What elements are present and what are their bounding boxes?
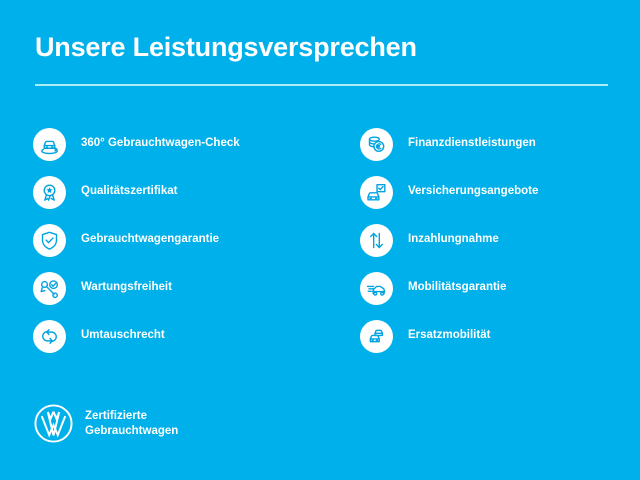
header: Unsere Leistungsversprechen <box>35 32 610 63</box>
promises-column-left: 360° Gebrauchtwagen-Check Qualitätszerti… <box>0 120 320 360</box>
list-item: Finanzdienstleistungen <box>360 120 640 168</box>
list-item-label: Mobilitätsgarantie <box>408 281 506 295</box>
promises-grid: 360° Gebrauchtwagen-Check Qualitätszerti… <box>0 120 640 360</box>
list-item-label: Qualitätszertifikat <box>81 185 178 199</box>
brand-lockup-text: Zertifizierte Gebrauchtwagen <box>85 409 178 439</box>
up-down-arrows-icon <box>360 224 393 257</box>
shield-check-icon <box>33 224 66 257</box>
two-cars-icon <box>360 320 393 353</box>
page-title: Unsere Leistungsversprechen <box>35 32 610 63</box>
list-item-label: Wartungsfreiheit <box>81 281 172 295</box>
brand-lockup-line1: Zertifizierte <box>85 410 147 422</box>
brand-lockup: Zertifizierte Gebrauchtwagen <box>33 403 178 444</box>
list-item: Mobilitätsgarantie <box>360 264 640 312</box>
promises-column-right: Finanzdienstleistungen Versicherungsange… <box>320 120 640 360</box>
wrench-check-icon <box>33 272 66 305</box>
list-item: 360° Gebrauchtwagen-Check <box>33 120 320 168</box>
quality-rosette-icon <box>33 176 66 209</box>
list-item-label: Versicherungsangebote <box>408 185 538 199</box>
list-item-label: Umtauschrecht <box>81 329 165 343</box>
list-item-label: Inzahlungnahme <box>408 233 499 247</box>
vw-logo <box>33 403 74 444</box>
car-360-check-icon <box>33 128 66 161</box>
list-item-label: 360° Gebrauchtwagen-Check <box>81 137 240 151</box>
list-item: Gebrauchtwagengarantie <box>33 216 320 264</box>
list-item: Umtauschrecht <box>33 312 320 360</box>
list-item-label: Finanzdienstleistungen <box>408 137 536 151</box>
exchange-arrows-icon <box>33 320 66 353</box>
list-item: Qualitätszertifikat <box>33 168 320 216</box>
list-item: Ersatzmobilität <box>360 312 640 360</box>
list-item-label: Ersatzmobilität <box>408 329 490 343</box>
list-item: Versicherungsangebote <box>360 168 640 216</box>
car-checklist-icon <box>360 176 393 209</box>
car-motion-icon <box>360 272 393 305</box>
list-item: Inzahlungnahme <box>360 216 640 264</box>
promises-slide: Unsere Leistungsversprechen 360° Gebrauc… <box>0 0 640 480</box>
title-divider <box>35 84 608 86</box>
brand-lockup-line2: Gebrauchtwagen <box>85 425 178 437</box>
coins-euro-icon <box>360 128 393 161</box>
list-item-label: Gebrauchtwagengarantie <box>81 233 219 247</box>
list-item: Wartungsfreiheit <box>33 264 320 312</box>
